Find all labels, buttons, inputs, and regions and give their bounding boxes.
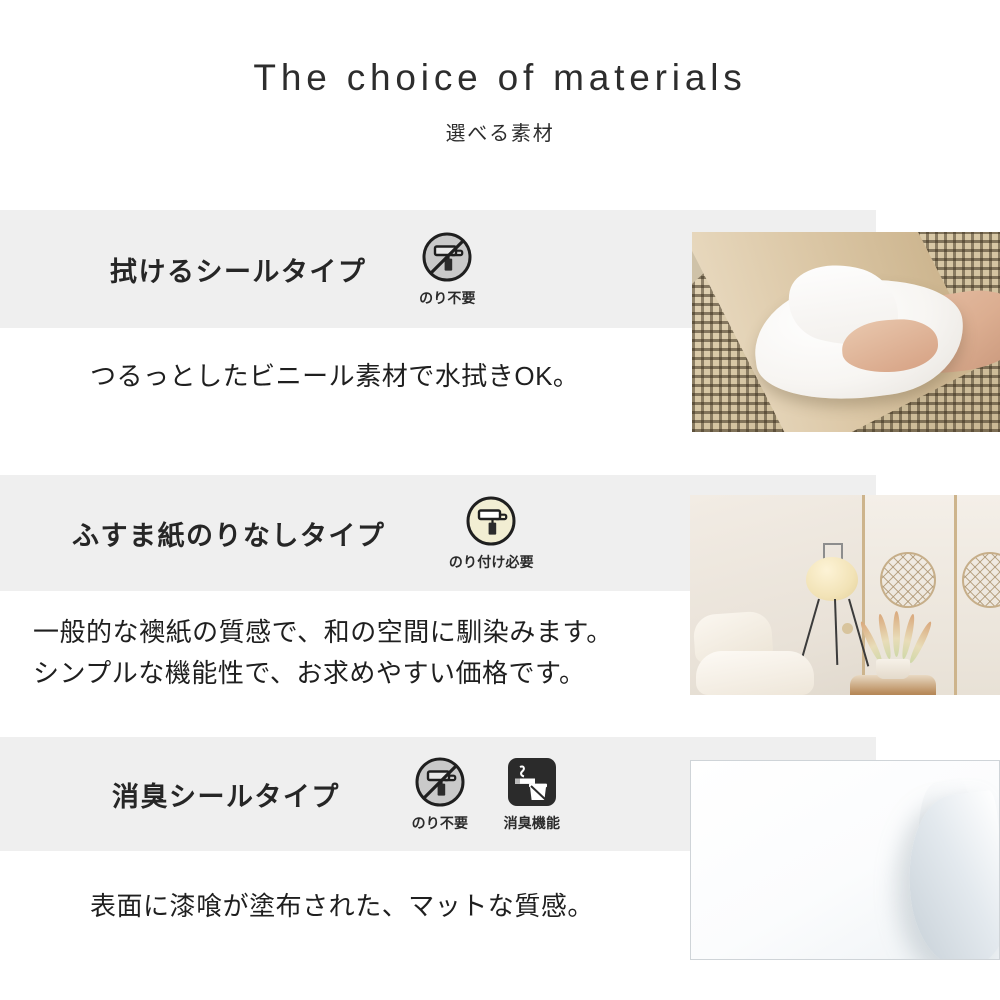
page-header: The choice of materials 選べる素材 [0, 0, 1000, 190]
no-glue-roller-icon [414, 756, 466, 808]
planter-pot [876, 659, 910, 679]
badge-glue-required-label: のり付け必要 [449, 552, 534, 572]
section-3-title: 消臭シールタイプ [112, 775, 340, 814]
page-title: The choice of materials [253, 58, 746, 99]
section-2-photo [690, 495, 1000, 695]
section-3-badges: のり不要 消臭機能 [402, 756, 570, 833]
badge-deodorizing-label: 消臭機能 [504, 813, 561, 833]
section-2-description-line-1: 一般的な襖紙の質感で、和の空間に馴染みます。 [33, 614, 613, 651]
pampas-grass [893, 611, 900, 657]
no-glue-roller-icon [421, 231, 473, 283]
section-1-photo [692, 232, 1000, 432]
badge-deodorizing: 消臭機能 [494, 756, 570, 833]
chair-seat [696, 651, 814, 695]
section-2-title: ふすま紙のりなしタイプ [72, 514, 385, 553]
badge-no-glue: のり不要 [409, 231, 485, 308]
lattice-medallion-1 [880, 552, 936, 608]
badge-glue-required: のり付け必要 [433, 495, 549, 572]
section-2-badges: のり付け必要 [433, 495, 549, 572]
badge-no-glue-label: のり不要 [419, 288, 476, 308]
section-1-title: 拭けるシールタイプ [110, 250, 366, 289]
badge-no-glue-label: のり不要 [412, 813, 469, 833]
section-2-description-line-2: シンプルな機能性で、お求めやすい価格です。 [33, 655, 586, 692]
section-1-badges: のり不要 [409, 231, 485, 308]
badge-no-glue: のり不要 [402, 756, 478, 833]
glue-required-roller-icon [465, 495, 517, 547]
section-3-description-line-1: 表面に漆喰が塗布された、マットな質感。 [90, 888, 594, 925]
deodorizing-function-icon [506, 756, 558, 808]
page-subtitle: 選べる素材 [446, 117, 555, 146]
section-1-description-line-1: つるっとしたビニール素材で水拭きOK。 [90, 358, 579, 395]
fusuma-knob [842, 623, 853, 634]
paper-lantern-lamp [806, 557, 858, 601]
section-3-photo [690, 760, 1000, 960]
